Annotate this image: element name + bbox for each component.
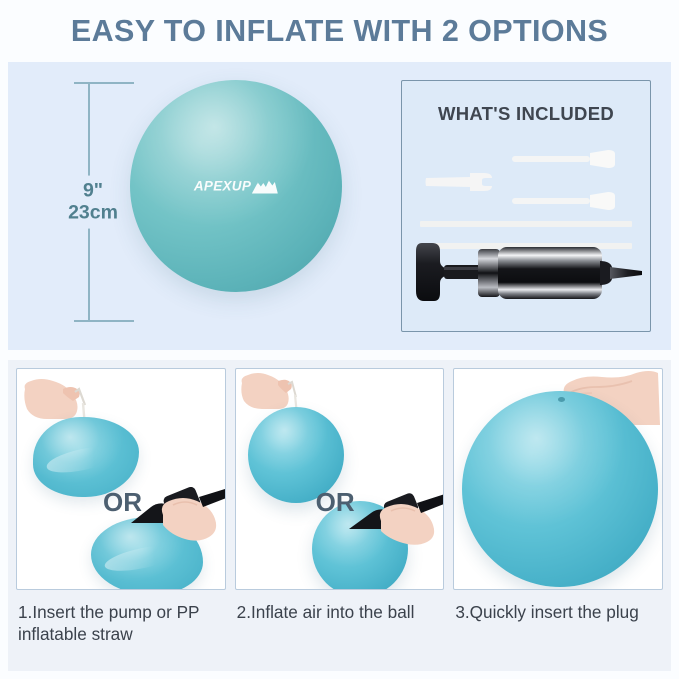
mountain-icon	[252, 179, 278, 193]
step-2: OR 2.Inflate air into the ball	[235, 368, 445, 661]
step-2-image: OR	[235, 368, 445, 590]
plug-remover-tool-icon	[424, 171, 500, 193]
dimension-cap-bottom	[74, 320, 134, 322]
step-2-caption: 2.Inflate air into the ball	[235, 601, 445, 623]
or-label-1: OR	[103, 487, 142, 518]
hand-pump-icon	[414, 229, 646, 315]
brand-logo: APEXUP	[194, 179, 278, 194]
brand-logo-text: APEXUP	[194, 179, 251, 194]
step-1-caption: 1.Insert the pump or PP inflatable straw	[16, 601, 226, 645]
or-label-2: OR	[316, 487, 355, 518]
product-infographic: EASY TO INFLATE WITH 2 OPTIONS 9" 23cm A…	[0, 0, 679, 679]
dimension-labels: 9" 23cm	[56, 176, 130, 229]
header: EASY TO INFLATE WITH 2 OPTIONS	[0, 0, 679, 62]
exercise-ball: APEXUP	[130, 80, 342, 292]
step-3-image	[453, 368, 663, 590]
whats-included-title: WHAT'S INCLUDED	[402, 103, 650, 125]
whats-included-panel: WHAT'S INCLUDED	[401, 80, 651, 332]
dimension-cap-top	[74, 82, 134, 84]
step-3: 3.Quickly insert the plug	[453, 368, 663, 661]
step-1: OR 1.Insert the pump or PP inflatable st…	[16, 368, 226, 661]
step-1-image: OR	[16, 368, 226, 590]
inflation-needle-2-icon	[512, 191, 622, 211]
step-3-caption: 3.Quickly insert the plug	[453, 601, 663, 623]
pp-straw-1-icon	[420, 221, 632, 227]
fully-inflated-ball	[462, 391, 658, 587]
inflation-needle-1-icon	[512, 149, 622, 169]
page-title: EASY TO INFLATE WITH 2 OPTIONS	[71, 14, 608, 49]
hand-holding-pump-icon	[349, 491, 444, 551]
deflated-ball-1	[33, 417, 139, 497]
dimension-centimeters: 23cm	[58, 202, 128, 224]
dimension-inches: 9"	[58, 180, 128, 202]
hand-holding-pump-icon	[129, 487, 226, 549]
ball-showcase: 9" 23cm APEXUP	[8, 62, 398, 350]
steps-section: OR 1.Insert the pump or PP inflatable st…	[8, 360, 671, 671]
top-section: 9" 23cm APEXUP WHAT'S INCLUDED	[8, 62, 671, 350]
